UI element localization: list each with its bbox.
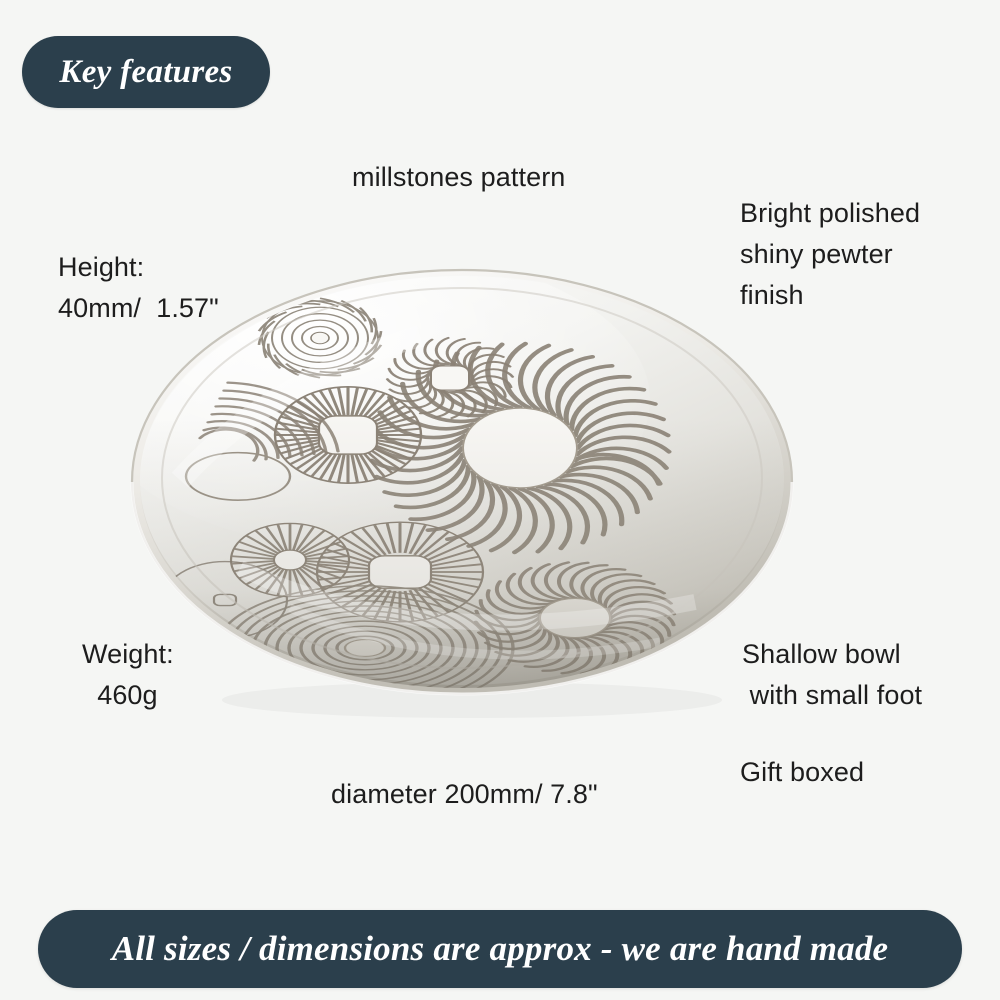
- annotation-weight: Weight: 460g: [82, 634, 174, 716]
- disclaimer-label: All sizes / dimensions are approx - we a…: [112, 929, 889, 969]
- key-features-badge: Key features: [22, 36, 270, 108]
- annotation-pattern: millstones pattern: [352, 157, 565, 198]
- product-image-bowl: [120, 250, 840, 720]
- key-features-label: Key features: [59, 54, 232, 91]
- annotation-finish: Bright polished shiny pewter finish: [740, 193, 920, 316]
- annotation-bowl-form: Shallow bowl with small foot: [742, 634, 922, 716]
- annotation-height: Height: 40mm/ 1.57": [58, 247, 219, 329]
- annotation-gift-boxed: Gift boxed: [740, 752, 864, 793]
- feature-graphic-canvas: Key features: [0, 0, 1000, 1000]
- disclaimer-banner: All sizes / dimensions are approx - we a…: [38, 910, 962, 988]
- annotation-diameter: diameter 200mm/ 7.8": [331, 774, 598, 815]
